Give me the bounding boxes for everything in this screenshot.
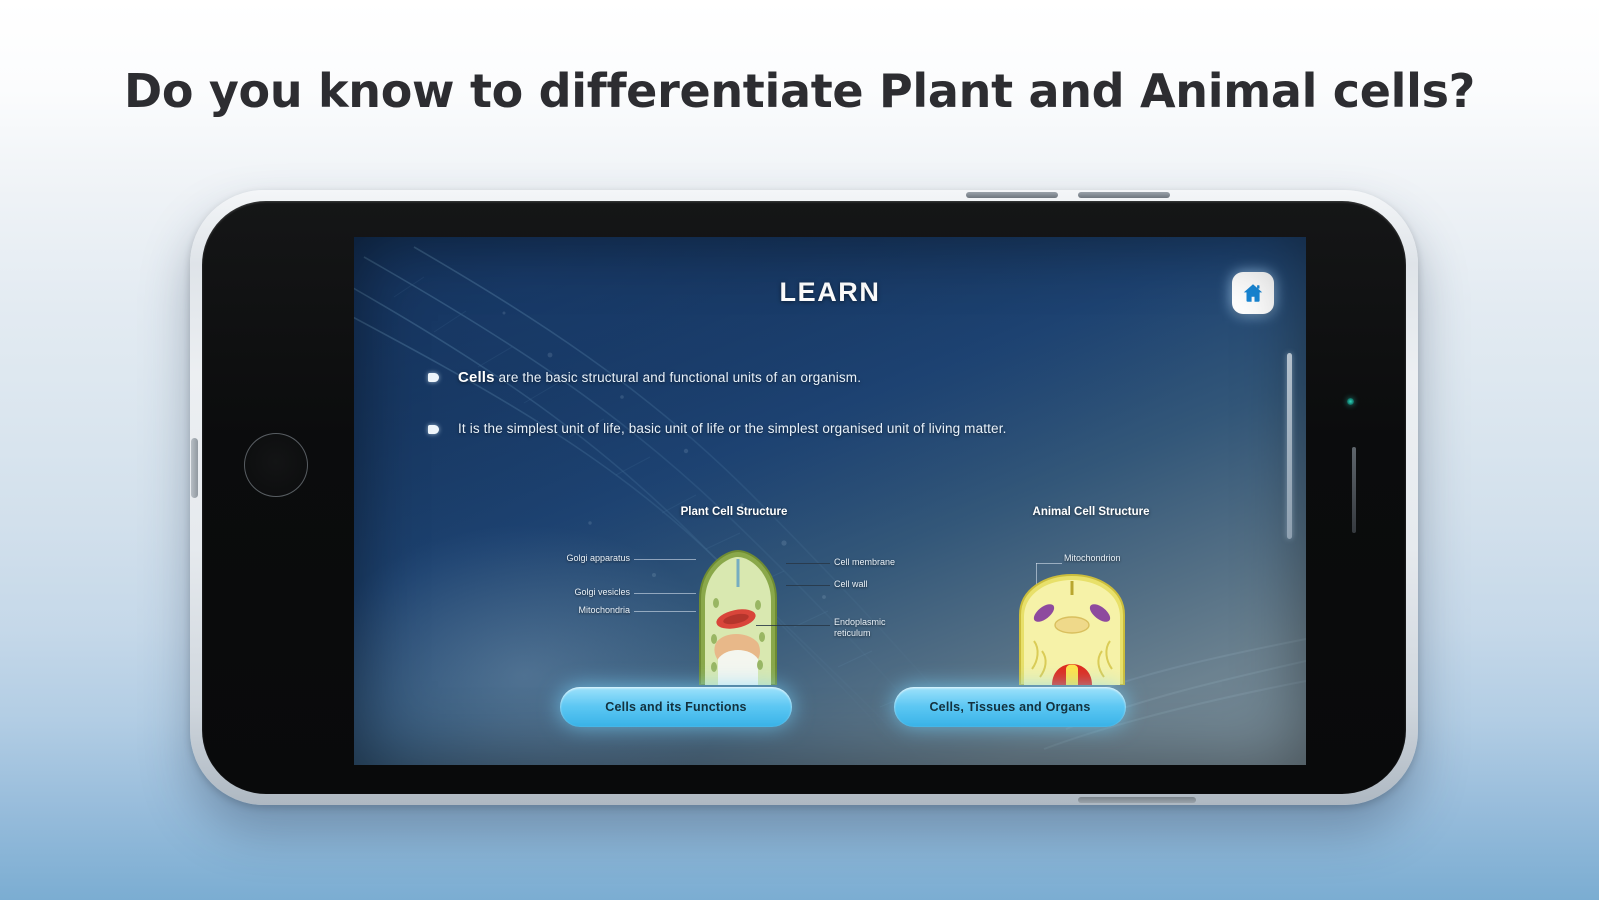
phone-device: LEARN Cells are the basic structural and… <box>190 190 1418 805</box>
plant-cell-illustration <box>690 547 786 685</box>
phone-bezel: LEARN Cells are the basic structural and… <box>202 201 1406 794</box>
label-golgi-vesicles: Golgi vesicles <box>522 587 630 598</box>
bullet-lead: Cells <box>458 369 495 386</box>
label-golgi-apparatus: Golgi apparatus <box>522 553 630 564</box>
cells-and-its-functions-button[interactable]: Cells and its Functions <box>560 687 792 727</box>
label-endoplasmic-reticulum: Endoplasmic reticulum <box>834 617 914 640</box>
mute-switch[interactable] <box>191 438 198 498</box>
front-camera <box>1347 398 1354 405</box>
bullet-arrow-icon <box>428 425 439 434</box>
page-title: Do you know to differentiate Plant and A… <box>0 64 1599 118</box>
bullet-arrow-icon <box>428 373 439 382</box>
bullet-text: Cells are the basic structural and funct… <box>458 367 861 389</box>
animal-cell-diagram: Animal Cell Structure Mitochondrion <box>968 505 1268 685</box>
bullet-body: are the basic structural and functional … <box>495 370 862 385</box>
animal-cell-title: Animal Cell Structure <box>1026 505 1156 519</box>
plant-cell-title: Plant Cell Structure <box>674 505 794 519</box>
screen-title: LEARN <box>354 277 1306 308</box>
power-button[interactable] <box>1078 797 1196 803</box>
cell-diagrams: Plant Cell Structure Golgi apparatus Gol… <box>354 505 1306 685</box>
bullet-text: It is the simplest unit of life, basic u… <box>458 419 1007 439</box>
cells-tissues-and-organs-button[interactable]: Cells, Tissues and Organs <box>894 687 1126 727</box>
label-mitochondria: Mitochondria <box>522 605 630 616</box>
lesson-bullet-list: Cells are the basic structural and funct… <box>428 367 1148 468</box>
list-item: It is the simplest unit of life, basic u… <box>428 419 1148 439</box>
label-cell-membrane: Cell membrane <box>834 557 938 568</box>
label-mitochondrion: Mitochondrion <box>1064 553 1174 564</box>
plant-cell-diagram: Plant Cell Structure Golgi apparatus Gol… <box>522 505 942 685</box>
animal-cell-illustration <box>1012 569 1132 685</box>
app-screen: LEARN Cells are the basic structural and… <box>354 237 1306 765</box>
volume-down-button[interactable] <box>1078 192 1170 198</box>
home-button[interactable] <box>244 433 308 497</box>
earpiece-speaker <box>1352 447 1356 533</box>
action-button-row: Cells and its Functions Cells, Tissues a… <box>354 687 1306 733</box>
label-cell-wall: Cell wall <box>834 579 938 590</box>
volume-up-button[interactable] <box>966 192 1058 198</box>
list-item: Cells are the basic structural and funct… <box>428 367 1148 389</box>
home-icon-button[interactable] <box>1232 272 1274 314</box>
home-icon <box>1241 281 1265 305</box>
